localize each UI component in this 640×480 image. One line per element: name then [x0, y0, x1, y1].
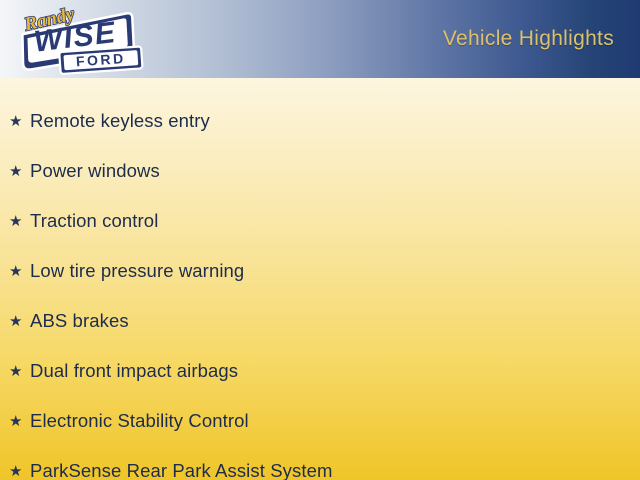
- list-item: ★ Traction control: [0, 196, 640, 246]
- logo-ford-banner: FORD: [59, 46, 142, 74]
- star-icon: ★: [9, 214, 30, 229]
- star-icon: ★: [9, 464, 30, 479]
- list-item-label: ABS brakes: [30, 310, 129, 332]
- star-icon: ★: [9, 364, 30, 379]
- list-item: ★ Electronic Stability Control: [0, 396, 640, 446]
- list-item-label: Power windows: [30, 160, 160, 182]
- logo-artwork: WISE Randy FORD: [8, 2, 148, 78]
- list-item: ★ Remote keyless entry: [0, 96, 640, 146]
- star-icon: ★: [9, 114, 30, 129]
- star-icon: ★: [9, 414, 30, 429]
- star-icon: ★: [9, 264, 30, 279]
- list-item-label: Remote keyless entry: [30, 110, 210, 132]
- randy-wise-ford-logo[interactable]: WISE Randy FORD: [8, 2, 148, 78]
- list-item: ★ Power windows: [0, 146, 640, 196]
- list-item: ★ ABS brakes: [0, 296, 640, 346]
- list-item: ★ Dual front impact airbags: [0, 346, 640, 396]
- list-item: ★ ParkSense Rear Park Assist System: [0, 446, 640, 480]
- star-icon: ★: [9, 164, 30, 179]
- list-item-label: ParkSense Rear Park Assist System: [30, 460, 333, 480]
- list-item: ★ Low tire pressure warning: [0, 246, 640, 296]
- list-item-label: Traction control: [30, 210, 158, 232]
- list-item-label: Dual front impact airbags: [30, 360, 238, 382]
- list-item-label: Low tire pressure warning: [30, 260, 244, 282]
- star-icon: ★: [9, 314, 30, 329]
- header-bar: WISE Randy FORD Vehicle Highlights: [0, 0, 640, 78]
- vehicle-highlights-slide: WISE Randy FORD Vehicle Highlights ★ Rem…: [0, 0, 640, 480]
- page-title: Vehicle Highlights: [443, 27, 614, 51]
- list-item-label: Electronic Stability Control: [30, 410, 249, 432]
- vehicle-highlights-list: ★ Remote keyless entry ★ Power windows ★…: [0, 78, 640, 480]
